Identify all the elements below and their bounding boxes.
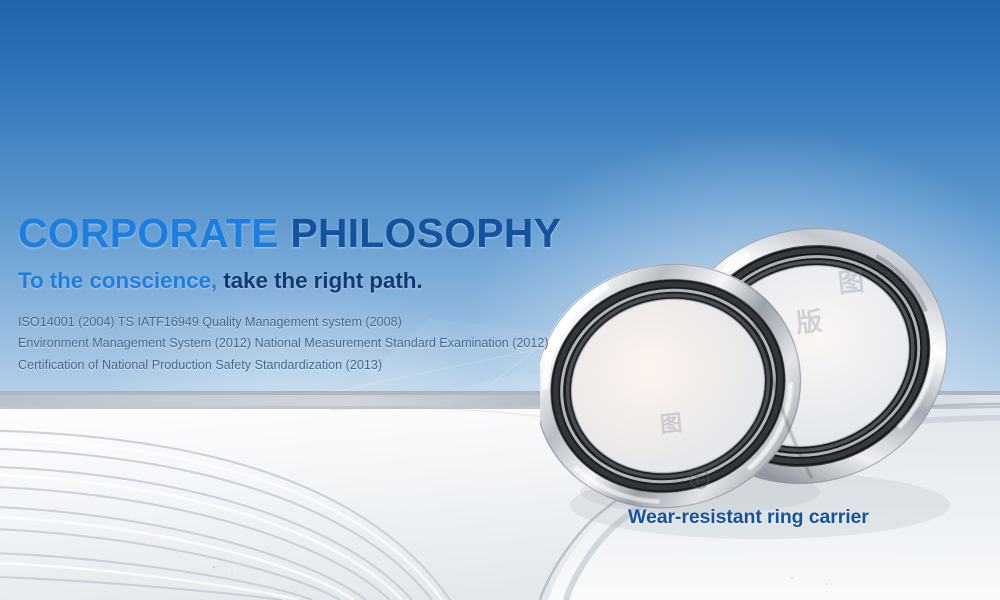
- headline-word-corporate: CORPORATE: [18, 210, 279, 256]
- certification-list: ISO14001 (2004) TS IATF16949 Quality Man…: [18, 312, 618, 377]
- subtitle: To the conscience, take the right path.: [18, 269, 618, 294]
- certification-line: Environment Management System (2012) Nat…: [18, 333, 618, 355]
- corporate-philosophy-banner: 图 版 图 CORPORATE PHILOSOPHY To the consci…: [0, 0, 1000, 600]
- page-title: CORPORATE PHILOSOPHY: [18, 212, 618, 255]
- subtitle-part-two: take the right path.: [223, 268, 422, 293]
- certification-line: ISO14001 (2004) TS IATF16949 Quality Man…: [18, 312, 618, 334]
- headline-word-philosophy: PHILOSOPHY: [290, 210, 561, 256]
- certification-line: Certification of National Production Saf…: [18, 355, 618, 377]
- product-caption: Wear-resistant ring carrier: [628, 506, 869, 529]
- headline-copy-block: CORPORATE PHILOSOPHY To the conscience, …: [18, 212, 618, 376]
- subtitle-part-one: To the conscience,: [18, 268, 217, 293]
